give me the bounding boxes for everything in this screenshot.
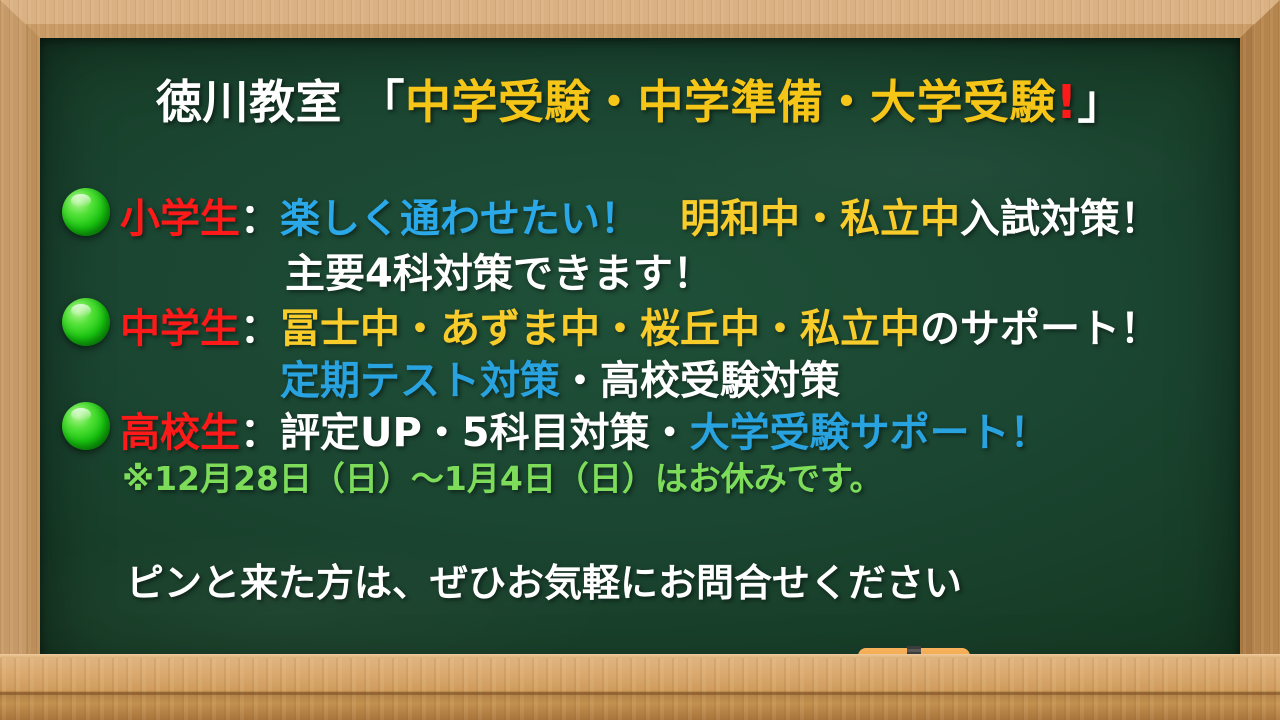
row-segment-elementary-1: 明和中・私立中 (640, 196, 960, 242)
bullet-icon-junior-high (62, 298, 110, 346)
chalk-ledge (0, 654, 1280, 720)
row-subline-junior-high-1: ・高校受験対策 (560, 358, 840, 404)
holiday-note: ※12月28日（日）〜1月4日（日）はお休みです。 (122, 452, 883, 500)
chalk-ledge-lip (0, 692, 1280, 695)
row-elementary: 小学生：楽しく通わせたい！ 明和中・私立中入試対策！ (120, 186, 1160, 244)
row-segment-elementary-0: 楽しく通わせたい！ (280, 196, 640, 242)
row-elementary-subline: 主要4科対策できます！ (285, 241, 713, 299)
row-segment-junior-high-0: 冨士中・あずま中・桜丘中・私立中 (280, 306, 920, 352)
title-close-quote: 」 (1078, 75, 1125, 129)
chalk-ledge-edge (0, 654, 1280, 658)
row-segment-high-school-0: 評定UP・5科目対策・ (280, 410, 690, 456)
row-junior-high-subline: 定期テスト対策・高校受験対策 (280, 348, 840, 406)
board-content: 徳川教室 「中学受験・中学準備・大学受験!」 小学生：楽しく通わせたい！ 明和中… (40, 38, 1240, 692)
row-label-junior-high: 中学生 (120, 306, 240, 352)
blackboard-surface: 徳川教室 「中学受験・中学準備・大学受験!」 小学生：楽しく通わせたい！ 明和中… (40, 38, 1240, 692)
title-school-name: 徳川教室 (156, 75, 342, 129)
row-segment-elementary-2: 入試対策！ (960, 196, 1160, 242)
page-title: 徳川教室 「中学受験・中学準備・大学受験!」 (40, 66, 1240, 132)
title-open-quote: 「 (359, 75, 406, 129)
row-subline-junior-high-0: 定期テスト対策 (280, 358, 560, 404)
closing-message: ピンと来た方は、ぜひお気軽にお問合せください (126, 552, 962, 607)
bullet-icon-elementary (62, 188, 110, 236)
row-colon-elementary: ： (240, 196, 280, 242)
chalkboard-poster: 徳川教室 「中学受験・中学準備・大学受験!」 小学生：楽しく通わせたい！ 明和中… (0, 0, 1280, 720)
row-label-high-school: 高校生 (120, 410, 240, 456)
row-segment-high-school-1: 大学受験サポート！ (690, 410, 1050, 456)
title-exclamation: ! (1056, 75, 1077, 129)
row-segment-junior-high-1: のサポート！ (920, 306, 1160, 352)
row-high-school: 高校生：評定UP・5科目対策・大学受験サポート！ (120, 400, 1050, 458)
title-highlight: 中学受験・中学準備・大学受験 (405, 75, 1056, 129)
row-colon-high-school: ： (240, 410, 280, 456)
bullet-icon-high-school (62, 402, 110, 450)
row-label-elementary: 小学生 (120, 196, 240, 242)
row-colon-junior-high: ： (240, 306, 280, 352)
row-junior-high: 中学生：冨士中・あずま中・桜丘中・私立中のサポート！ (120, 296, 1160, 354)
